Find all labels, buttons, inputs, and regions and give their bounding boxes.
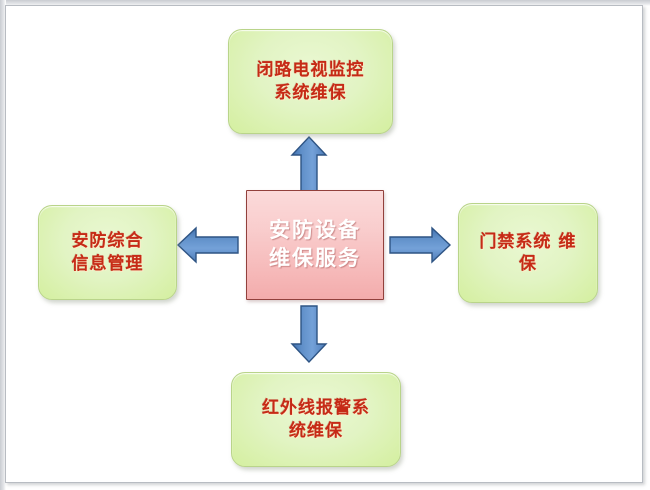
node-cctv[interactable]: 闭路电视监控 系统维保 <box>228 29 393 134</box>
node-infrared-alarm[interactable]: 红外线报警系 统维保 <box>231 372 401 467</box>
node-cctv-label: 闭路电视监控 系统维保 <box>251 59 371 104</box>
node-access-control[interactable]: 门禁系统 维 保 <box>458 203 598 303</box>
center-node[interactable]: 安防设备 维保服务 <box>246 190 384 300</box>
node-security-info-label: 安防综合 信息管理 <box>66 230 150 275</box>
node-access-control-label: 门禁系统 维 保 <box>474 231 583 276</box>
node-infrared-alarm-label: 红外线报警系 统维保 <box>256 397 376 442</box>
node-security-info[interactable]: 安防综合 信息管理 <box>38 205 177 300</box>
center-node-label: 安防设备 维保服务 <box>263 217 367 272</box>
diagram-canvas: 闭路电视监控 系统维保 安防综合 信息管理 安防设备 维保服务 门禁系统 维 保… <box>0 0 650 490</box>
